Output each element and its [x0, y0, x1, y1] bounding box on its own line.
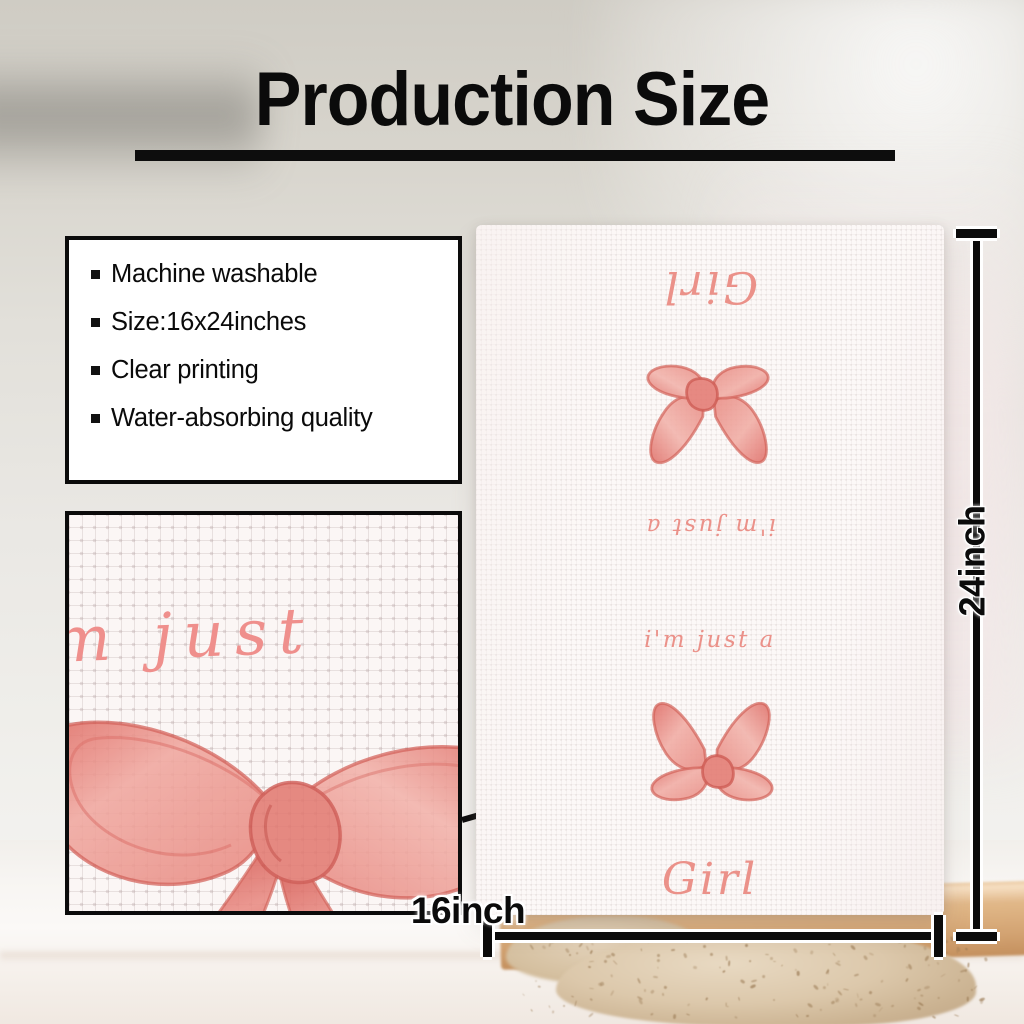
- feature-label: Clear printing: [111, 356, 258, 385]
- feature-item: Size:16x24inches: [91, 308, 448, 337]
- detail-caption-text: m just: [65, 594, 316, 677]
- design-caption-small: i'm just a: [476, 513, 944, 539]
- square-bullet-icon: [91, 318, 100, 327]
- title-underline: [135, 150, 895, 161]
- feature-item: Water-absorbing quality: [91, 404, 448, 433]
- bow-illustration-bottom: [610, 669, 810, 849]
- bow-illustration-top: [610, 317, 810, 497]
- square-bullet-icon: [91, 414, 100, 423]
- detail-zoom-inset: m just: [65, 511, 462, 915]
- height-dimension-cap-bottom: [956, 932, 997, 941]
- square-bullet-icon: [91, 270, 100, 279]
- square-bullet-icon: [91, 366, 100, 375]
- feature-item: Clear printing: [91, 356, 448, 385]
- design-caption-large: Girl: [476, 261, 944, 312]
- towel-design-top: i'm just a Girl: [476, 265, 944, 545]
- width-dimension-line: [486, 932, 942, 940]
- height-dimension-label: 24inch: [952, 505, 994, 616]
- product-towel: i'm just a Girl i'm: [476, 225, 944, 915]
- feature-label: Water-absorbing quality: [111, 404, 372, 433]
- feature-item: Machine washable: [91, 260, 448, 289]
- page-title: Production Size: [41, 62, 983, 138]
- page-title-block: Production Size: [0, 62, 1024, 138]
- height-dimension-cap-top: [956, 229, 997, 238]
- feature-label: Size:16x24inches: [111, 308, 306, 337]
- feature-label: Machine washable: [111, 260, 317, 289]
- towel-design-bottom: i'm just a Girl: [476, 621, 944, 901]
- design-caption-small: i'm just a: [476, 627, 944, 653]
- bow-illustration-large: [65, 685, 462, 915]
- width-dimension-label: 16inch: [0, 890, 1024, 932]
- feature-list-box: Machine washable Size:16x24inches Clear …: [65, 236, 462, 484]
